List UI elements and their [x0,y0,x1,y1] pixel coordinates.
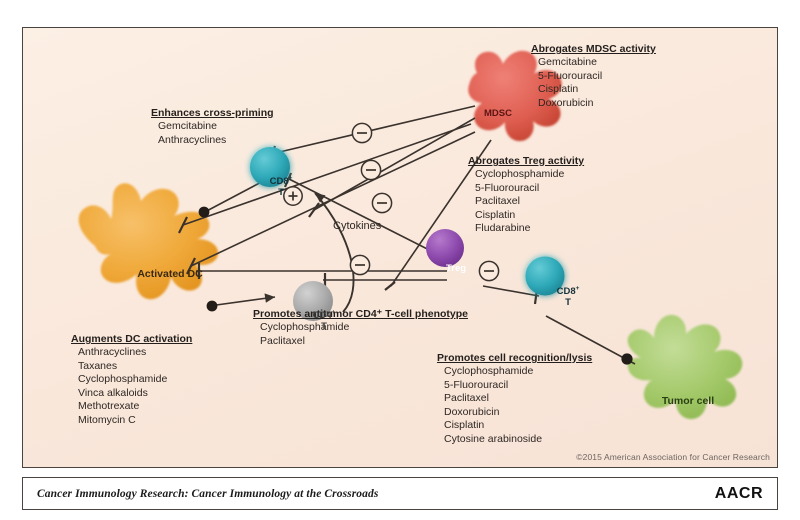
journal-title: Cancer Immunology Research: Cancer Immun… [37,488,378,500]
block-heading: Abrogates Treg activity [468,154,584,168]
block-promotes-cell-recognition-lysis: Promotes cell recognition/lysis Cyclopho… [437,351,592,447]
aacr-logo: AACR [715,485,763,503]
block-item: Paclitaxel [253,335,468,349]
block-item: Methotrexate [71,400,192,414]
block-abrogates-treg-activity: Abrogates Treg activity Cyclophosphamide… [468,154,584,236]
block-item: Cisplatin [437,419,592,433]
block-item: Fludarabine [468,222,584,236]
node-activated-dc[interactable] [79,183,218,299]
block-heading: Promotes antitumor CD4⁺ T-cell phenotype [253,307,468,321]
node-cd8-right[interactable] [526,257,565,296]
node-treg[interactable] [426,229,464,267]
block-heading: Augments DC activation [71,332,192,346]
node-tumor-cell[interactable] [628,315,743,419]
block-item: Anthracyclines [71,346,192,360]
block-augments-dc-activation: Augments DC activation Anthracyclines Ta… [71,332,192,428]
block-item: Cyclophosphamide [253,321,468,335]
sign-badges [284,123,499,280]
figure-panel: CD8 left : curved activating arrow --> M… [22,27,778,468]
node-cd8-left[interactable] [250,147,290,187]
block-item: Anthracyclines [151,134,274,148]
block-item: Cisplatin [531,83,656,97]
block-item: Cytosine arabinoside [437,433,592,447]
block-item: 5-Fluorouracil [531,70,656,84]
block-item: Taxanes [71,360,192,374]
block-item: Gemcitabine [531,56,656,70]
block-item: Cisplatin [468,209,584,223]
figure-root: CD8 left : curved activating arrow --> M… [0,0,800,520]
edge-dc-primes-cd4 [209,297,275,306]
copyright-notice: ©2015 American Association for Cancer Re… [576,452,770,462]
block-item: Cyclophosphamide [71,373,192,387]
block-heading: Abrogates MDSC activity [531,42,656,56]
figure-footer: Cancer Immunology Research: Cancer Immun… [22,477,778,510]
block-item: Paclitaxel [437,392,592,406]
block-item: Doxorubicin [437,406,592,420]
block-item: Doxorubicin [531,97,656,111]
block-abrogates-mdsc-activity: Abrogates MDSC activity Gemcitabine 5-Fl… [531,42,656,110]
block-promotes-antitumor-cd4: Promotes antitumor CD4⁺ T-cell phenotype… [253,307,468,348]
block-heading: Enhances cross-priming [151,106,274,120]
block-heading: Promotes cell recognition/lysis [437,351,592,365]
block-item: 5-Fluorouracil [468,182,584,196]
block-item: Gemcitabine [151,120,274,134]
block-item: Cyclophosphamide [437,365,592,379]
label-cytokines: Cytokines [333,220,381,232]
block-item: Mitomycin C [71,414,192,428]
block-item: Cyclophosphamide [468,168,584,182]
block-item: Paclitaxel [468,195,584,209]
block-enhances-cross-priming: Enhances cross-priming Gemcitabine Anthr… [151,106,274,147]
block-item: Vinca alkaloids [71,387,192,401]
block-item: 5-Fluorouracil [437,379,592,393]
